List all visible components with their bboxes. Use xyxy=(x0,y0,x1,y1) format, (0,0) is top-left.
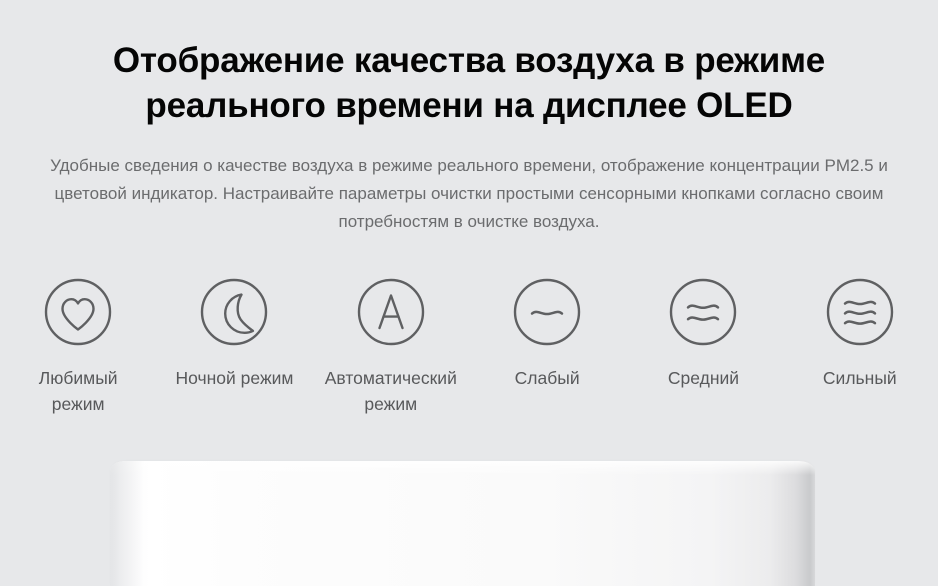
mode-item-low[interactable]: Слабый xyxy=(469,278,625,417)
wave-two-icon xyxy=(669,278,737,346)
modes-row: Любимый режим Ночной режим Автоматически… xyxy=(0,278,938,417)
page-content: Отображение качества воздуха в режиме ре… xyxy=(0,0,938,417)
wave-three-icon xyxy=(826,278,894,346)
mode-label: Сильный xyxy=(823,365,897,391)
mode-item-favourite[interactable]: Любимый режим xyxy=(0,278,156,417)
mode-item-medium[interactable]: Средний xyxy=(625,278,781,417)
page-title: Отображение качества воздуха в режиме ре… xyxy=(0,0,938,128)
moon-icon xyxy=(200,278,268,346)
mode-label: Средний xyxy=(668,365,739,391)
air-purifier-product-image xyxy=(110,461,815,586)
page-description: Удобные сведения о качестве воздуха в ре… xyxy=(31,128,907,236)
heart-icon xyxy=(44,278,112,346)
mode-label: Слабый xyxy=(515,365,580,391)
wave-one-icon xyxy=(513,278,581,346)
mode-label: Любимый режим xyxy=(39,365,118,417)
letter-a-icon xyxy=(357,278,425,346)
mode-label: Автоматический режим xyxy=(325,365,457,417)
mode-item-night[interactable]: Ночной режим xyxy=(156,278,312,417)
mode-item-auto[interactable]: Автоматический режим xyxy=(313,278,469,417)
mode-item-strong[interactable]: Сильный xyxy=(782,278,938,417)
mode-label: Ночной режим xyxy=(176,365,294,391)
